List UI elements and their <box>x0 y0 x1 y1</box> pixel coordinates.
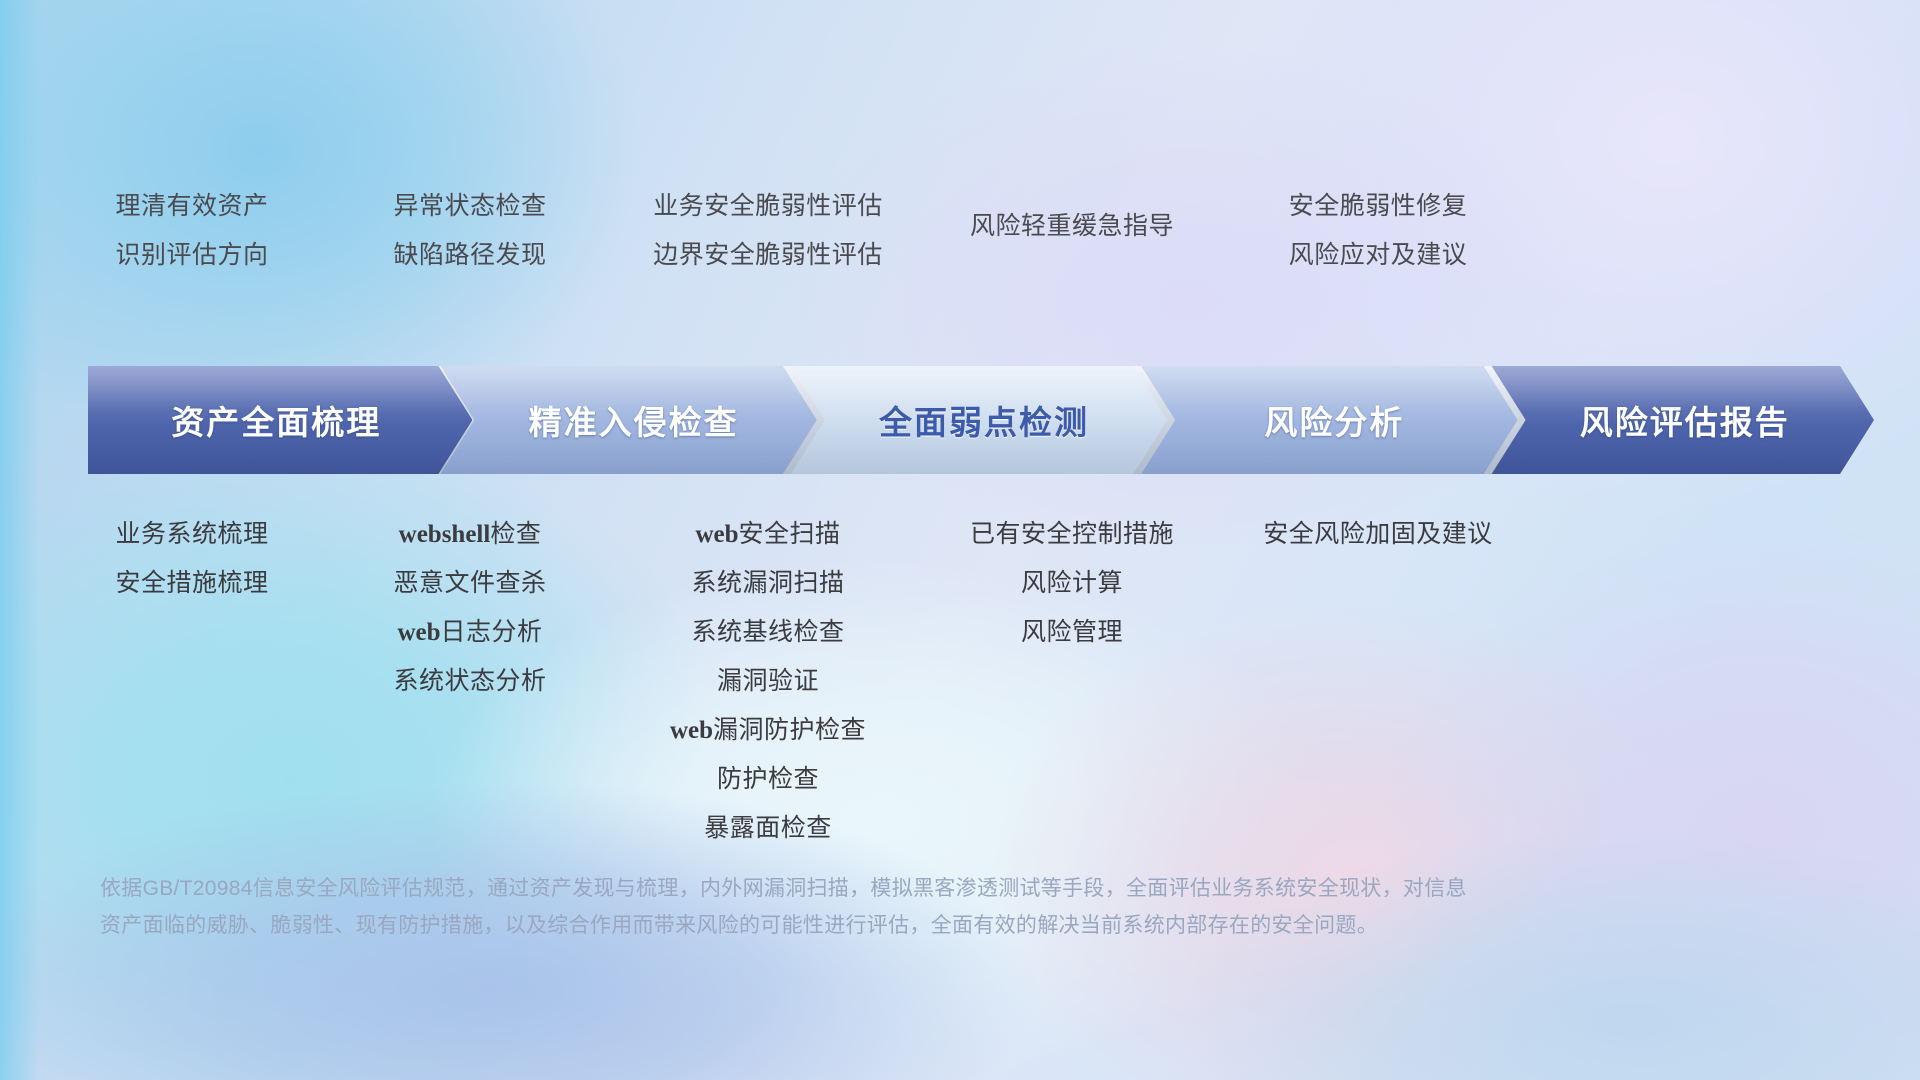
step-tasks-row: 业务系统梳理安全措施梳理webshell检查恶意文件查杀web日志分析系统状态分… <box>0 474 1920 764</box>
task-label-latin: web <box>397 619 440 646</box>
process-step-2[interactable]: 精准入侵检查 <box>438 366 822 474</box>
process-step-3[interactable]: 全面弱点检测 <box>789 366 1173 474</box>
step-output-item: 安全脆弱性修复 <box>1128 182 1628 231</box>
footer-line-1: 依据GB/T20984信息安全风险评估规范，通过资产发现与梳理，内外网漏洞扫描，… <box>100 870 1660 907</box>
process-step-title: 风险评估报告 <box>1580 396 1790 444</box>
step-outputs-5: 安全脆弱性修复风险应对及建议 <box>1128 182 1628 280</box>
process-step-title: 全面弱点检测 <box>879 396 1089 444</box>
step-task-item: 防护检查 <box>518 755 1018 804</box>
task-label-latin: web <box>670 717 713 744</box>
step-output-item: 风险应对及建议 <box>1128 231 1628 280</box>
step-task-item: 风险管理 <box>822 608 1322 657</box>
process-step-title: 风险分析 <box>1264 396 1404 444</box>
step-task-item: 风险计算 <box>822 559 1322 608</box>
footer-line-2: 资产面临的威胁、脆弱性、现有防护措施，以及综合作用而带来风险的可能性进行评估，全… <box>100 907 1660 944</box>
step-task-item: 漏洞验证 <box>518 657 1018 706</box>
step-task-item: 安全风险加固及建议 <box>1128 510 1628 559</box>
step-tasks-5: 安全风险加固及建议 <box>1128 510 1628 559</box>
step-task-item: 暴露面检查 <box>518 804 1018 853</box>
footer-description: 依据GB/T20984信息安全风险评估规范，通过资产发现与梳理，内外网漏洞扫描，… <box>100 870 1660 944</box>
process-step-title: 精准入侵检查 <box>529 396 739 444</box>
step-outputs-row: 理清有效资产识别评估方向异常状态检查缺陷路径发现业务安全脆弱性评估边界安全脆弱性… <box>0 0 1920 360</box>
process-step-1[interactable]: 资产全面梳理 <box>88 366 472 474</box>
task-label-latin: webshell <box>399 521 491 548</box>
step-task-item: web漏洞防护检查 <box>518 706 1018 755</box>
process-step-5[interactable]: 风险评估报告 <box>1490 366 1874 474</box>
process-step-4[interactable]: 风险分析 <box>1139 366 1523 474</box>
process-chevron-band: 资产全面梳理精准入侵检查全面弱点检测风险分析风险评估报告 <box>88 366 1840 474</box>
process-step-title: 资产全面梳理 <box>171 396 381 444</box>
task-label-latin: web <box>695 521 738 548</box>
